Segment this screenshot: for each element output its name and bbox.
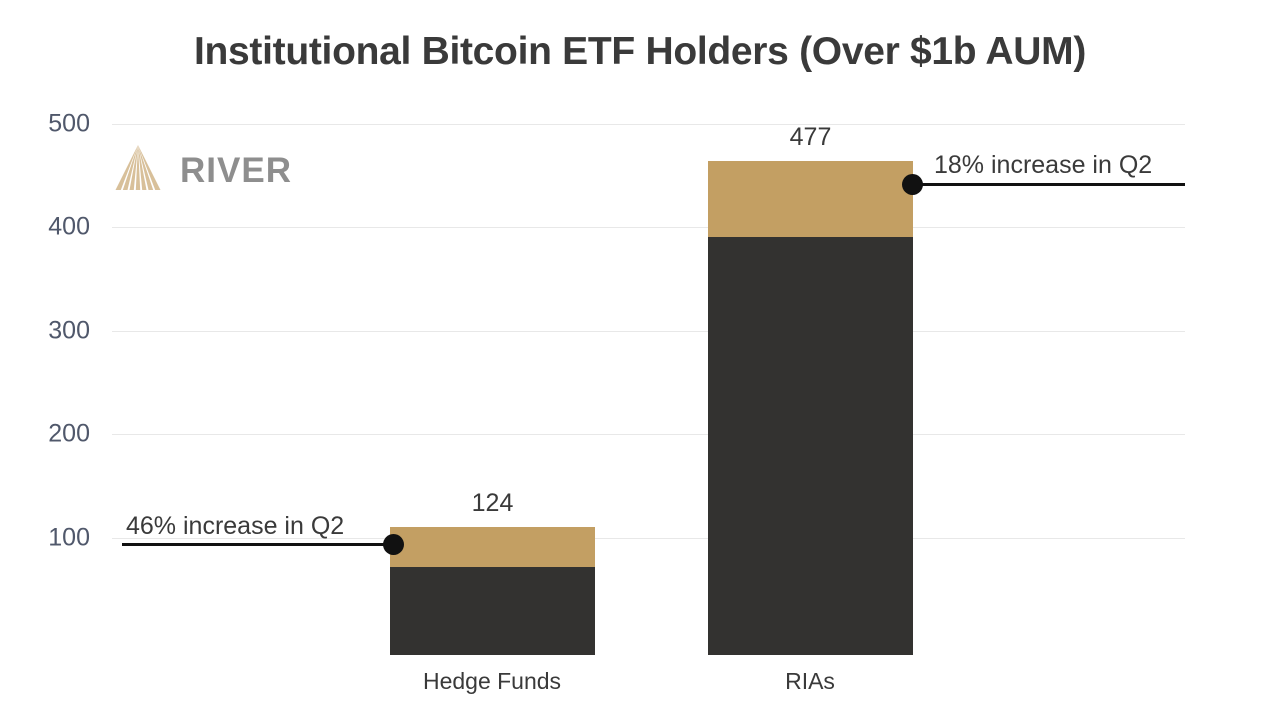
bar-rias[interactable]: 477 — [708, 161, 913, 655]
bar-value-label-rias: 477 — [790, 123, 832, 152]
y-tick-label-400: 400 — [20, 213, 90, 242]
annotation-leader-line-rias — [913, 183, 1185, 186]
y-tick-label-300: 300 — [20, 316, 90, 345]
annotation-leader-line-hedge-funds — [122, 543, 397, 546]
y-axis: 100 200 300 400 500 — [20, 117, 90, 655]
y-tick-label-100: 100 — [20, 523, 90, 552]
x-axis-label-hedge-funds: Hedge Funds — [423, 668, 561, 695]
gridline-400 — [112, 227, 1185, 228]
annotation-dot-rias — [902, 174, 923, 195]
y-tick-label-500: 500 — [20, 109, 90, 138]
page-title: Institutional Bitcoin ETF Holders (Over … — [0, 30, 1280, 74]
x-axis-label-rias: RIAs — [785, 668, 835, 695]
bar-segment-base-hedge-funds[interactable] — [390, 567, 595, 655]
gridline-300 — [112, 331, 1185, 332]
annotation-dot-hedge-funds — [383, 534, 404, 555]
gridline-500 — [112, 124, 1185, 125]
plot-area: 124 477 — [112, 117, 1185, 655]
bar-value-label-hedge-funds: 124 — [472, 489, 514, 518]
bar-hedge-funds[interactable]: 124 — [390, 527, 595, 655]
bar-segment-growth-hedge-funds[interactable] — [390, 527, 595, 567]
gridline-200 — [112, 434, 1185, 435]
bar-segment-growth-rias[interactable] — [708, 161, 913, 237]
y-tick-label-200: 200 — [20, 420, 90, 449]
bar-segment-base-rias[interactable] — [708, 237, 913, 655]
annotation-label-rias: 18% increase in Q2 — [934, 151, 1152, 180]
annotation-label-hedge-funds: 46% increase in Q2 — [126, 512, 344, 541]
